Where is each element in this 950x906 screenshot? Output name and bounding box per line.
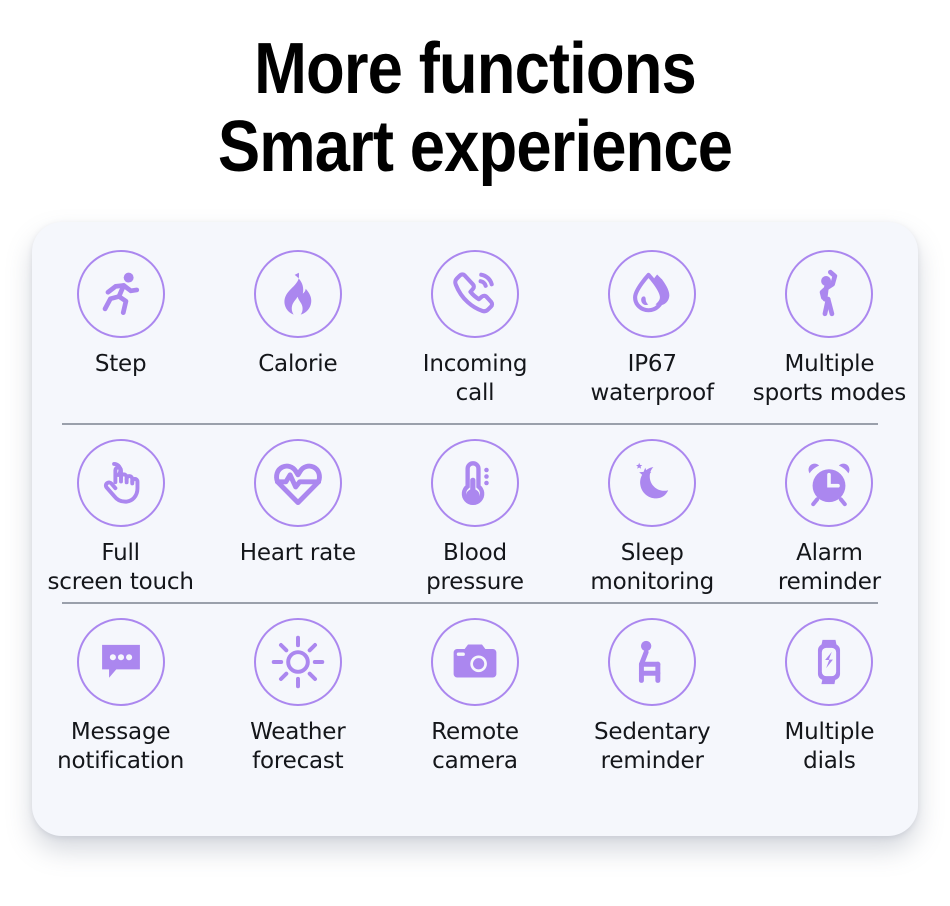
feature-grid: Step Calorie Incoming xyxy=(32,222,918,836)
feature-weather-forecast[interactable]: Weather forecast xyxy=(209,606,386,788)
feature-step[interactable]: Step xyxy=(32,238,209,420)
feature-label: Step xyxy=(95,350,147,379)
feature-label: Message notification xyxy=(57,718,184,776)
feature-multiple-sports-modes[interactable]: Multiple sports modes xyxy=(741,238,918,420)
alarm-clock-icon xyxy=(785,439,873,527)
feature-label: Sleep monitoring xyxy=(590,539,714,597)
flame-icon xyxy=(254,250,342,338)
feature-row-2: Full screen touch Heart rate xyxy=(32,427,918,609)
feature-ip67-waterproof[interactable]: IP67 waterproof xyxy=(564,238,741,420)
feature-blood-pressure[interactable]: Blood pressure xyxy=(386,427,563,609)
feature-row-3: Message notification Weather forecast xyxy=(32,606,918,788)
feature-label: Multiple sports modes xyxy=(753,350,906,408)
feature-calorie[interactable]: Calorie xyxy=(209,238,386,420)
chat-bubble-icon xyxy=(77,618,165,706)
page-title-line-2: Smart experience xyxy=(57,108,893,186)
feature-full-screen-touch[interactable]: Full screen touch xyxy=(32,427,209,609)
camera-icon xyxy=(431,618,519,706)
stretching-person-icon xyxy=(785,250,873,338)
feature-sedentary-reminder[interactable]: Sedentary reminder xyxy=(564,606,741,788)
smartwatch-icon xyxy=(785,618,873,706)
feature-label: Incoming call xyxy=(423,350,527,408)
feature-label: Blood pressure xyxy=(426,539,524,597)
crescent-moon-stars-icon xyxy=(608,439,696,527)
feature-label: Multiple dials xyxy=(785,718,875,776)
sitting-person-icon xyxy=(608,618,696,706)
tap-hand-icon xyxy=(77,439,165,527)
feature-incoming-call[interactable]: Incoming call xyxy=(386,238,563,420)
row-divider-1 xyxy=(62,423,878,425)
feature-remote-camera[interactable]: Remote camera xyxy=(386,606,563,788)
feature-multiple-dials[interactable]: Multiple dials xyxy=(741,606,918,788)
feature-message-notification[interactable]: Message notification xyxy=(32,606,209,788)
running-person-icon xyxy=(77,250,165,338)
feature-label: Full screen touch xyxy=(47,539,193,597)
feature-label: Sedentary reminder xyxy=(594,718,710,776)
heart-pulse-icon xyxy=(254,439,342,527)
feature-label: Calorie xyxy=(258,350,337,379)
feature-label: Remote camera xyxy=(431,718,519,776)
feature-label: IP67 waterproof xyxy=(591,350,714,408)
feature-label: Alarm reminder xyxy=(778,539,881,597)
feature-heart-rate[interactable]: Heart rate xyxy=(209,427,386,609)
thermometer-icon xyxy=(431,439,519,527)
feature-label: Weather forecast xyxy=(250,718,345,776)
water-drop-icon xyxy=(608,250,696,338)
feature-row-1: Step Calorie Incoming xyxy=(32,238,918,420)
phone-ringing-icon xyxy=(431,250,519,338)
feature-card: Step Calorie Incoming xyxy=(32,222,918,836)
feature-alarm-reminder[interactable]: Alarm reminder xyxy=(741,427,918,609)
page-title-line-1: More functions xyxy=(57,30,893,108)
feature-label: Heart rate xyxy=(240,539,356,568)
feature-sleep-monitoring[interactable]: Sleep monitoring xyxy=(564,427,741,609)
sun-icon xyxy=(254,618,342,706)
page-title: More functions Smart experience xyxy=(0,30,950,186)
